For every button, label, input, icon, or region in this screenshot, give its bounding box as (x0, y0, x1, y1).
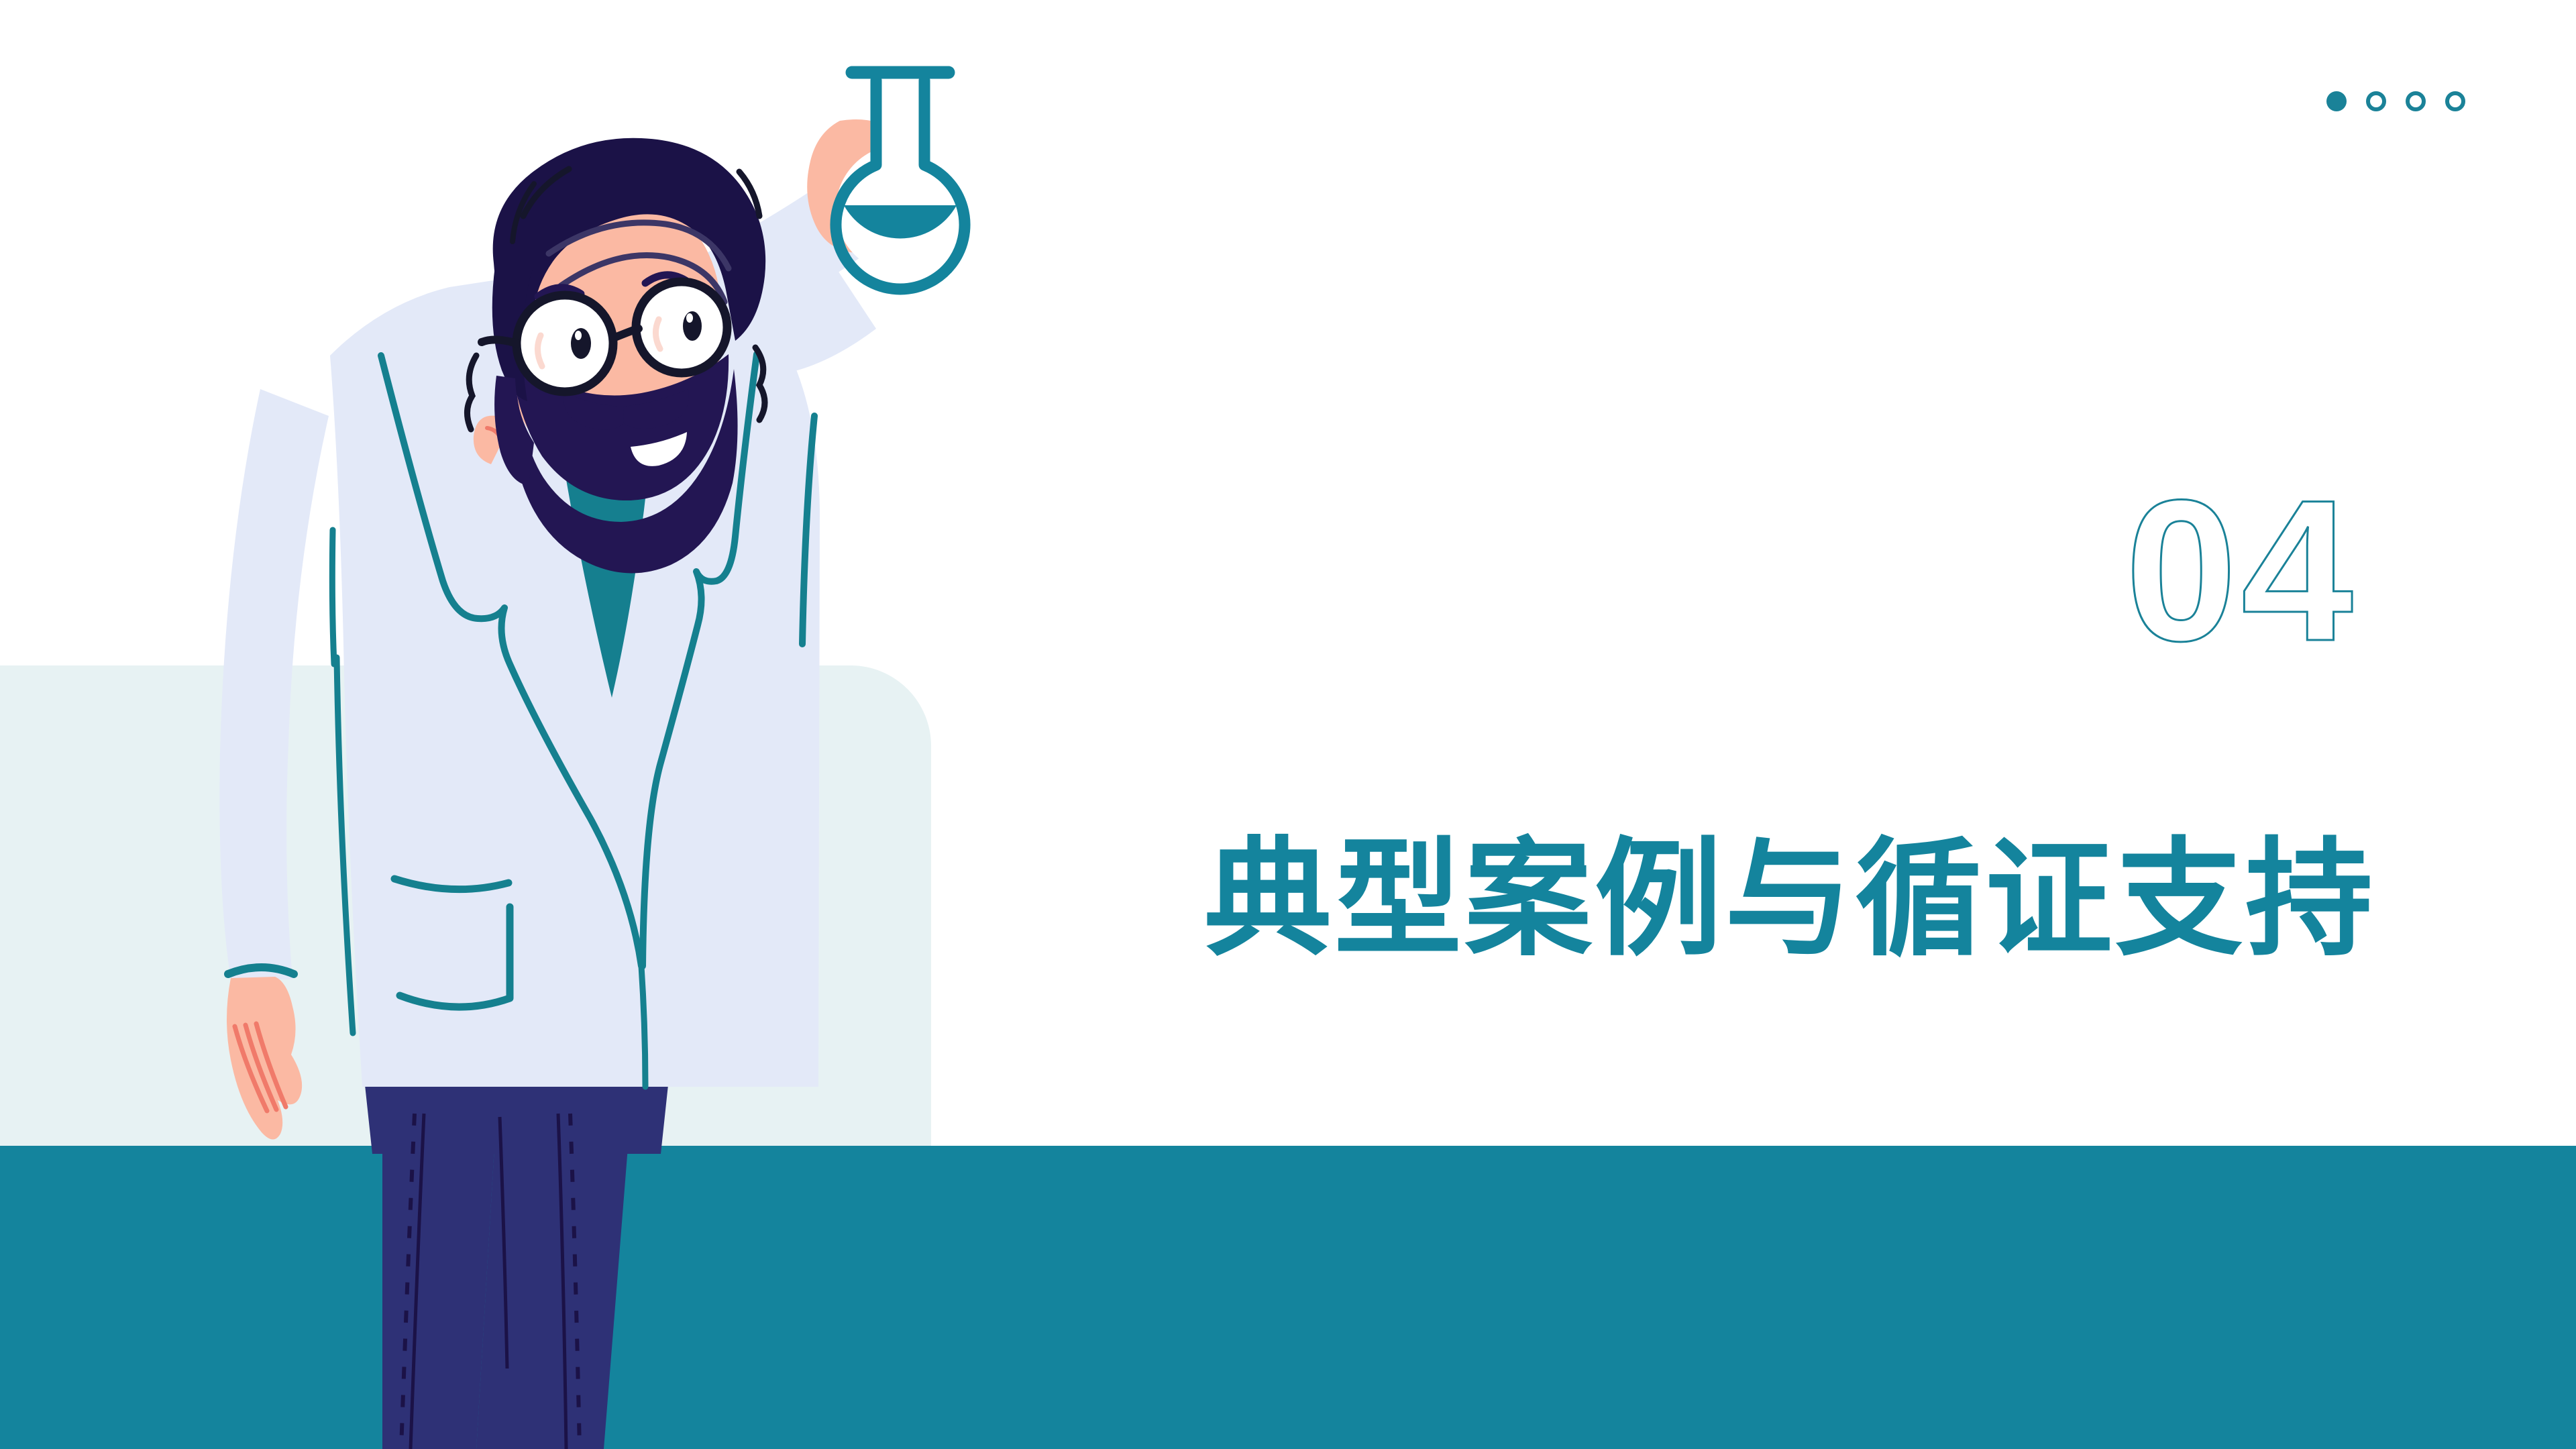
pagination-dot-4[interactable] (2445, 91, 2465, 111)
pagination-dots[interactable] (2326, 91, 2465, 111)
section-title: 典型案例与循证支持 (1204, 828, 2375, 971)
section-number: 04 (2125, 470, 2357, 671)
slide-root: 04 典型案例与循证支持 (0, 0, 2576, 1449)
pagination-dot-2[interactable] (2366, 91, 2386, 111)
scientist-illustration (161, 40, 1114, 1449)
pagination-dot-3[interactable] (2406, 91, 2426, 111)
pagination-dot-1[interactable] (2326, 91, 2347, 111)
